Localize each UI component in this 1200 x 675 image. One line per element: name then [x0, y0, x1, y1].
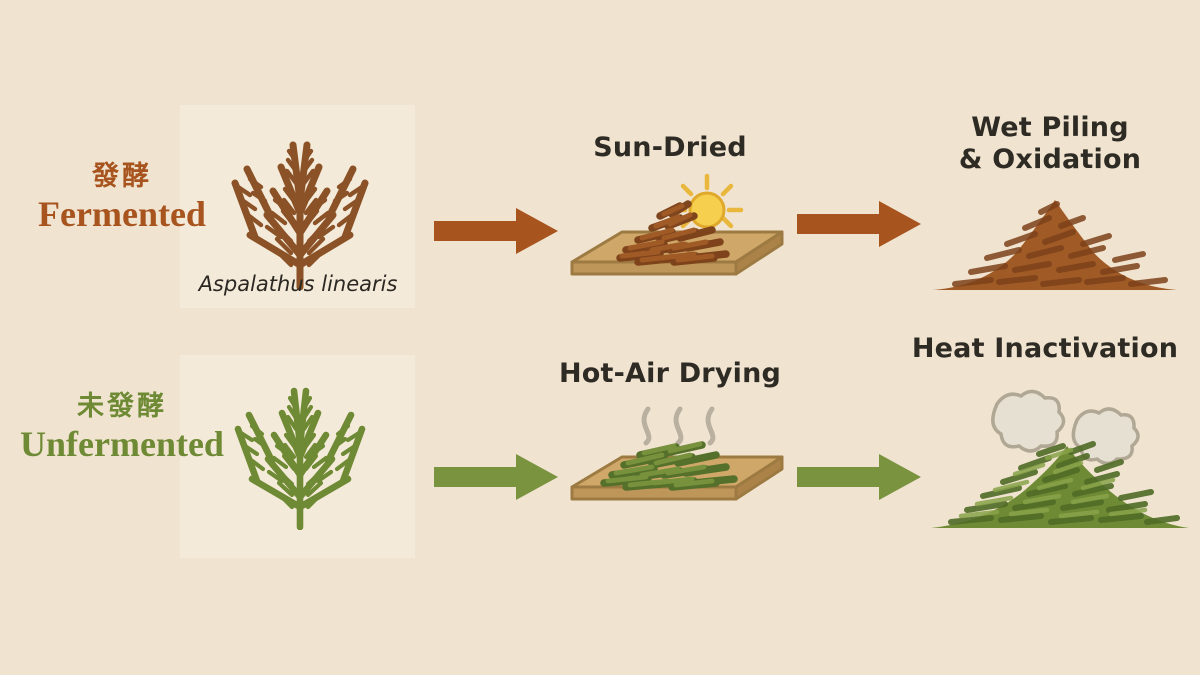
arrow-fermented-1: [432, 206, 560, 256]
heading-wet-piling-line1: Wet Piling: [900, 112, 1200, 144]
steam-icon: [644, 409, 713, 443]
tea-pile-icon-unfermented: [925, 380, 1195, 535]
tea-pile-icon-fermented: [925, 190, 1185, 300]
arrow-unfermented-2: [795, 452, 923, 502]
heading-heat-inactivation: Heat Inactivation: [890, 333, 1200, 365]
arrow-fermented-2: [795, 198, 923, 250]
rooibos-plant-icon-unfermented: [200, 355, 400, 530]
arrow-unfermented-1: [432, 452, 560, 502]
heading-wet-piling: Wet Piling & Oxidation: [900, 112, 1200, 176]
sun-dried-tray-icon: [560, 170, 795, 295]
heading-sun-dried: Sun-Dried: [540, 132, 800, 164]
rooibos-plant-icon-fermented: [195, 105, 405, 290]
heading-hot-air-drying: Hot-Air Drying: [540, 358, 800, 390]
hot-air-drying-tray-icon: [560, 395, 795, 520]
species-caption: Aspalathus linearis: [178, 272, 418, 296]
diagram-canvas: 發酵 Fermented: [0, 0, 1200, 675]
heading-wet-piling-line2: & Oxidation: [900, 144, 1200, 176]
